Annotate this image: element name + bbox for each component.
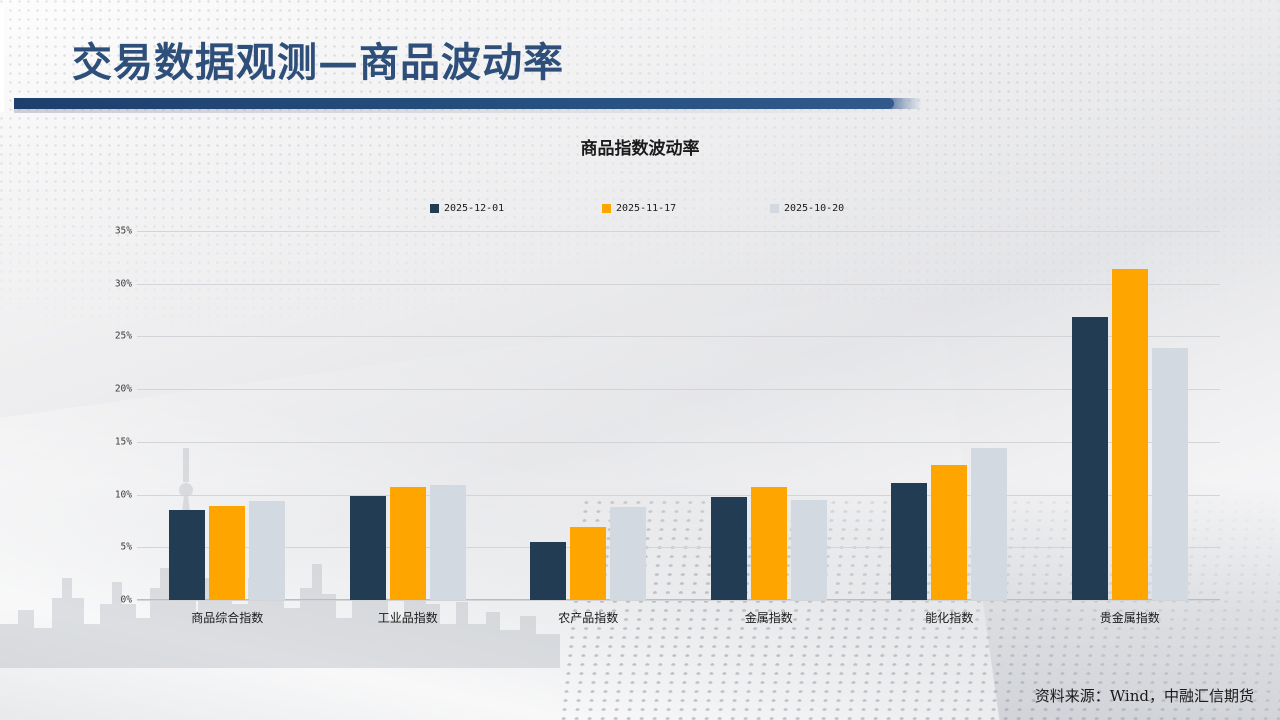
x-axis-category-label: 能化指数 <box>859 609 1040 626</box>
title-underline-tail <box>880 98 922 109</box>
legend-item[interactable]: 2025-12-01 <box>430 203 504 214</box>
chart-bar-groups: 商品综合指数工业品指数农产品指数金属指数能化指数贵金属指数 <box>137 231 1220 600</box>
y-axis-tick-label: 15% <box>72 436 132 447</box>
x-axis-category-label: 工业品指数 <box>318 609 499 626</box>
bar[interactable] <box>711 497 747 600</box>
bar-group-bars <box>318 231 499 600</box>
bar-group-bars <box>137 231 318 600</box>
x-axis-category-label: 农产品指数 <box>498 609 679 626</box>
page-title: 交易数据观测—商品波动率 <box>72 30 564 88</box>
bar[interactable] <box>791 500 827 600</box>
legend-label: 2025-11-17 <box>616 203 676 214</box>
bar[interactable] <box>1112 269 1148 600</box>
legend-item[interactable]: 2025-10-20 <box>770 203 844 214</box>
bar[interactable] <box>350 496 386 600</box>
bar-group-bars <box>498 231 679 600</box>
bar[interactable] <box>530 542 566 600</box>
y-axis-tick-label: 35% <box>72 226 132 237</box>
chart-title: 商品指数波动率 <box>0 134 1280 159</box>
x-axis-category-label: 贵金属指数 <box>1040 609 1221 626</box>
bar[interactable] <box>931 465 967 600</box>
chart-legend: 2025-12-012025-11-172025-10-20 <box>330 203 950 221</box>
bar-group: 金属指数 <box>679 231 860 600</box>
bar[interactable] <box>169 510 205 600</box>
bar[interactable] <box>751 487 787 600</box>
chart-container: 商品指数波动率 2025-12-012025-11-172025-10-20 3… <box>0 118 1280 638</box>
bar[interactable] <box>1072 317 1108 600</box>
y-axis-tick-label: 25% <box>72 331 132 342</box>
bar[interactable] <box>430 485 466 600</box>
y-axis-tick-label: 10% <box>72 489 132 500</box>
y-axis-tick-label: 0% <box>72 595 132 606</box>
bar[interactable] <box>249 501 285 600</box>
y-axis-tick-label: 20% <box>72 384 132 395</box>
bar-group: 贵金属指数 <box>1040 231 1221 600</box>
legend-swatch-icon <box>430 204 439 213</box>
legend-label: 2025-12-01 <box>444 203 504 214</box>
title-underline-shadow <box>14 109 914 113</box>
slide-canvas: 交易数据观测—商品波动率 商品指数波动率 2025-12-012025-11-1… <box>0 0 1280 720</box>
gridline <box>137 600 1220 601</box>
bar-group: 商品综合指数 <box>137 231 318 600</box>
bar[interactable] <box>390 487 426 600</box>
legend-item[interactable]: 2025-11-17 <box>602 203 676 214</box>
bar[interactable] <box>570 527 606 600</box>
x-axis-category-label: 金属指数 <box>679 609 860 626</box>
legend-swatch-icon <box>602 204 611 213</box>
legend-swatch-icon <box>770 204 779 213</box>
bar[interactable] <box>610 507 646 600</box>
bar[interactable] <box>971 448 1007 600</box>
bar[interactable] <box>1152 348 1188 600</box>
source-note: 资料来源：Wind，中融汇信期货 <box>1035 685 1254 706</box>
title-underline-fill <box>14 98 894 109</box>
bar[interactable] <box>209 506 245 600</box>
bar-group: 农产品指数 <box>498 231 679 600</box>
y-axis-tick-label: 30% <box>72 278 132 289</box>
bar-group-bars <box>859 231 1040 600</box>
chart-plot-area: 35%30%25%20%15%10%5%0% 商品综合指数工业品指数农产品指数金… <box>137 231 1220 600</box>
left-edge-accent <box>0 8 4 112</box>
bar-group: 能化指数 <box>859 231 1040 600</box>
title-underline-bar <box>0 98 1280 112</box>
bar-group: 工业品指数 <box>318 231 499 600</box>
bar[interactable] <box>891 483 927 600</box>
legend-label: 2025-10-20 <box>784 203 844 214</box>
bar-group-bars <box>679 231 860 600</box>
y-axis-tick-label: 5% <box>72 542 132 553</box>
x-axis-category-label: 商品综合指数 <box>137 609 318 626</box>
bar-group-bars <box>1040 231 1221 600</box>
